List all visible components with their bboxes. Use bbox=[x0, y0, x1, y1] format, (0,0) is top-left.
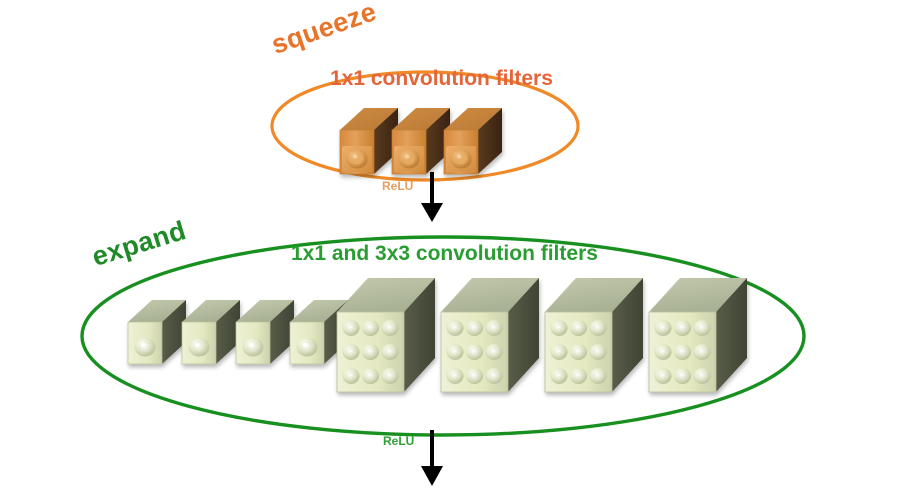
fire-module-diagram: squeeze 1x1 convolution filters ReLU exp… bbox=[0, 0, 900, 500]
squeeze-filter-block bbox=[340, 108, 502, 174]
expand-3x3-filter-block bbox=[337, 278, 747, 392]
expand-1x1-filter-block bbox=[128, 300, 348, 364]
relu-top-label: ReLU bbox=[382, 180, 413, 192]
relu-bottom-label: ReLU bbox=[383, 435, 414, 447]
relu-bottom-arrow bbox=[421, 430, 443, 486]
squeeze-title: 1x1 convolution filters bbox=[330, 68, 553, 89]
expand-title: 1x1 and 3x3 convolution filters bbox=[291, 243, 598, 264]
